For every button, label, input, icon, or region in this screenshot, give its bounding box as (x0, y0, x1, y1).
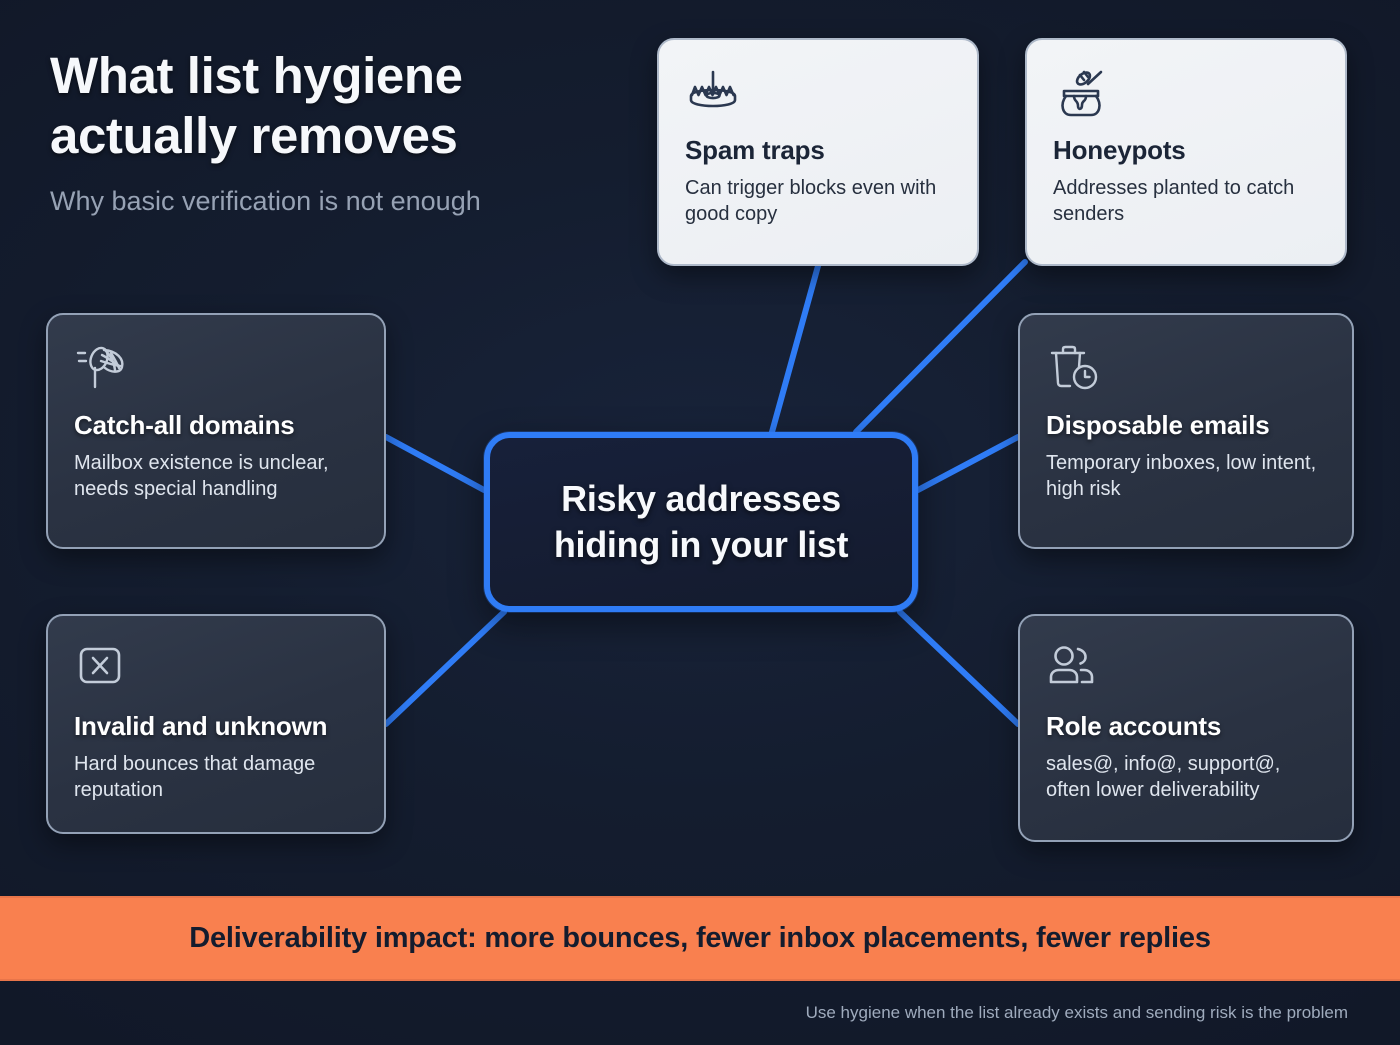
connector-catchall (386, 437, 484, 490)
card-title: Role accounts (1046, 712, 1326, 742)
impact-banner: Deliverability impact: more bounces, few… (0, 896, 1400, 981)
center-node-line-1: Risky addresses (554, 476, 848, 522)
bear-trap-icon (685, 64, 951, 120)
page-title: What list hygiene actually removes (50, 46, 670, 165)
x-square-icon (74, 640, 358, 696)
card-honeypots[interactable]: Honeypots Addresses planted to catch sen… (1025, 38, 1347, 266)
card-catch-all-domains[interactable]: Catch-all domains Mailbox existence is u… (46, 313, 386, 549)
card-description: Temporary inboxes, low intent, high risk (1046, 450, 1326, 503)
card-description: sales@, info@, support@, often lower del… (1046, 751, 1326, 804)
page-subtitle: Why basic verification is not enough (50, 185, 670, 219)
connector-role (900, 612, 1018, 724)
card-title: Catch-all domains (74, 411, 358, 441)
card-title: Honeypots (1053, 136, 1319, 166)
footer: Use hygiene when the list already exists… (0, 981, 1400, 1045)
infographic-canvas: What list hygiene actually removes Why b… (0, 0, 1400, 1045)
page-title-line-1: What list hygiene (50, 46, 670, 106)
card-title: Disposable emails (1046, 411, 1326, 441)
connector-invalid (386, 612, 504, 724)
trash-clock-icon (1046, 339, 1326, 395)
connector-spam (772, 266, 818, 432)
impact-banner-text: Deliverability impact: more bounces, few… (189, 922, 1211, 955)
card-disposable-emails[interactable]: Disposable emails Temporary inboxes, low… (1018, 313, 1354, 549)
header-block: What list hygiene actually removes Why b… (50, 46, 670, 219)
card-description: Hard bounces that damage reputation (74, 751, 358, 804)
center-node[interactable]: Risky addresses hiding in your list (484, 432, 918, 612)
honey-pot-icon (1053, 64, 1319, 120)
card-title: Invalid and unknown (74, 712, 358, 742)
page-title-line-2: actually removes (50, 106, 670, 166)
card-spam-traps[interactable]: Spam traps Can trigger blocks even with … (657, 38, 979, 266)
butterfly-net-icon (74, 339, 358, 395)
footer-note: Use hygiene when the list already exists… (806, 1003, 1348, 1023)
card-role-accounts[interactable]: Role accounts sales@, info@, support@, o… (1018, 614, 1354, 842)
card-title: Spam traps (685, 136, 951, 166)
card-invalid-and-unknown[interactable]: Invalid and unknown Hard bounces that da… (46, 614, 386, 834)
card-description: Mailbox existence is unclear, needs spec… (74, 450, 358, 503)
users-icon (1046, 640, 1326, 696)
connector-honey (856, 262, 1025, 432)
card-description: Can trigger blocks even with good copy (685, 175, 951, 228)
card-description: Addresses planted to catch senders (1053, 175, 1319, 228)
center-node-line-2: hiding in your list (554, 522, 848, 568)
center-node-text: Risky addresses hiding in your list (554, 476, 848, 568)
connector-disposable (918, 437, 1018, 490)
